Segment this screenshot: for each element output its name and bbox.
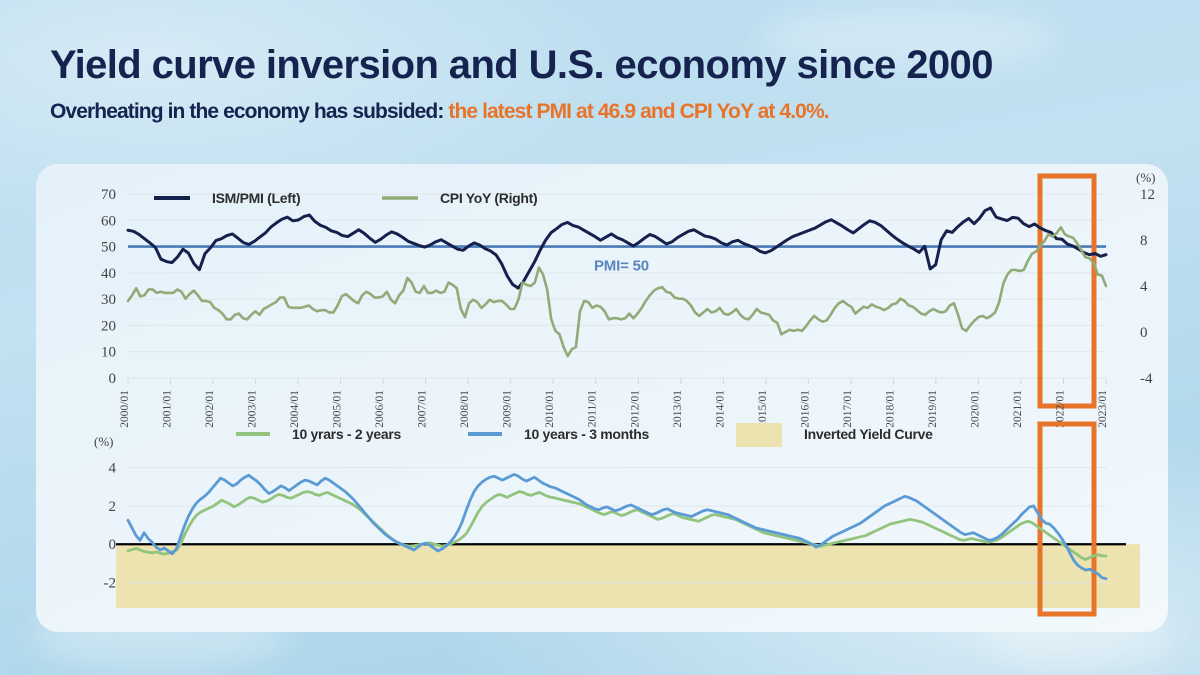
y-axis-right-unit: (%) [1136,170,1156,185]
y-axis-left-tick: 10 [101,345,116,361]
x-axis-tick: 2020/01 [969,390,981,428]
y-axis-left-tick: 20 [101,318,116,334]
legend-label-0: ISM/PMI (Left) [212,190,300,206]
y-axis-right-tick: 4 [1140,279,1148,295]
header: Yield curve inversion and U.S. economy s… [50,44,1170,124]
x-axis-tick: 2018/01 [884,390,896,428]
highlight-box [1040,176,1094,406]
y-axis-tick: -2 [104,576,117,592]
page-subtitle: Overheating in the economy has subsided:… [50,100,1170,124]
legend-swatch-2 [736,423,782,447]
legend-label-2: Inverted Yield Curve [804,426,933,442]
x-axis-tick: 2013/01 [672,390,684,428]
x-axis-tick: 2007/01 [417,390,429,428]
y-axis-tick: 4 [109,461,117,477]
y-axis-left-tick: 30 [101,292,116,308]
top-chart-pmi-cpi: 010203040506070-404812(%)PMI= 50ISM/PMI … [36,164,1168,434]
x-axis-tick: 2002/01 [204,390,216,428]
x-axis-tick: 2017/01 [842,390,854,428]
y-axis-left-tick: 0 [109,371,117,387]
x-axis-tick: 2005/01 [332,390,344,428]
x-axis-tick: 2010/01 [544,390,556,428]
page-title: Yield curve inversion and U.S. economy s… [50,44,1170,86]
x-axis-tick: 2001/01 [162,390,174,428]
chart-panel: 010203040506070-404812(%)PMI= 50ISM/PMI … [36,164,1168,632]
y-axis-left-tick: 40 [101,266,116,282]
y-axis-tick: 2 [109,499,117,515]
x-axis-tick: 2009/01 [502,390,514,428]
x-axis-tick: 2004/01 [289,390,301,428]
y-axis-unit: (%) [94,434,114,449]
x-axis-tick: 2008/01 [459,390,471,428]
x-axis-tick: 2015/01 [757,390,769,428]
bottom-chart-yield-spreads: -2024(%)10 yrars - 2 years10 years - 3 m… [36,434,1168,632]
y-axis-tick: 0 [109,537,117,553]
x-axis-tick: 2014/01 [714,390,726,428]
x-axis-tick: 2003/01 [247,390,259,428]
x-axis-tick: 2011/01 [587,390,599,428]
x-axis-tick: 2006/01 [374,390,386,428]
y-axis-right-tick: -4 [1140,371,1153,387]
x-axis-tick: 2023/01 [1097,390,1109,428]
y-axis-left-tick: 50 [101,240,116,256]
y-axis-right-tick: 12 [1140,187,1155,203]
x-axis-tick: 2012/01 [629,390,641,428]
x-axis-tick: 2000/01 [119,390,131,428]
x-axis-tick: 2019/01 [927,390,939,428]
y-axis-right-tick: 8 [1140,233,1148,249]
y-axis-left-tick: 60 [101,213,116,229]
x-axis-tick: 2016/01 [799,390,811,428]
legend-label-1: 10 years - 3 months [524,426,650,442]
y-axis-left-tick: 70 [101,187,116,203]
subtitle-plain: Overheating in the economy has subsided: [50,100,448,123]
x-axis-tick: 2021/01 [1012,390,1024,428]
subtitle-highlight: the latest PMI at 46.9 and CPI YoY at 4.… [448,100,828,123]
pmi-50-annotation: PMI= 50 [594,258,649,275]
legend-label-1: CPI YoY (Right) [440,190,537,206]
legend-label-0: 10 yrars - 2 years [292,426,402,442]
inverted-yield-curve-band [116,544,1140,608]
y-axis-right-tick: 0 [1140,325,1148,341]
